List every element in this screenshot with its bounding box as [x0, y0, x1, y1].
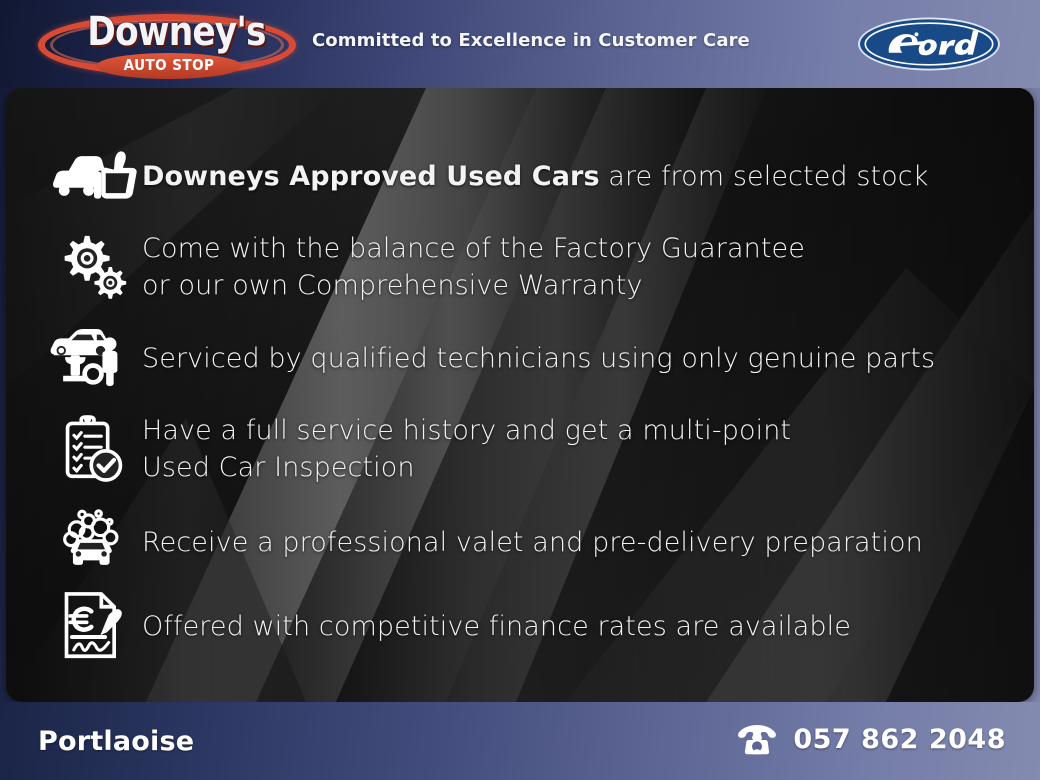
list-item: Receive a professional valet and pre-del…	[46, 506, 1014, 578]
phone-number: 057 862 2048	[793, 724, 1006, 755]
footer-bar: Portlaoise 057 862 2048	[0, 702, 1040, 780]
list-item-label: Come with the balance of the Factory Gua…	[142, 230, 805, 304]
list-item-label-rest: are from selected stock	[600, 161, 929, 192]
list-item: Have a full service history and get a mu…	[46, 402, 1014, 496]
list-item-label: Downeys Approved Used Cars are from sele…	[142, 158, 928, 195]
downeys-logo[interactable]: Downey's AUTO STOP	[36, 4, 298, 86]
list-item-line-1: Have a full service history and get a mu…	[142, 412, 791, 449]
promo-banner: Downey's AUTO STOP Committed to Excellen…	[0, 0, 1040, 780]
logo-wordmark: Downey's	[87, 10, 250, 54]
list-item-label: Receive a professional valet and pre-del…	[142, 524, 923, 561]
euro-finance-document-icon	[46, 590, 142, 662]
ford-oval-icon	[856, 16, 1002, 72]
list-item-line-2: Used Car Inspection	[142, 449, 791, 486]
list-item: Downeys Approved Used Cars are from sele…	[46, 140, 1014, 212]
car-lift-mechanic-icon	[46, 322, 142, 394]
ford-oval-logo[interactable]	[856, 16, 1002, 72]
car-thumbs-up-icon	[46, 140, 142, 212]
car-wash-valet-icon	[46, 506, 142, 578]
main-panel: Downeys Approved Used Cars are from sele…	[6, 88, 1034, 702]
telephone-icon	[737, 725, 777, 755]
phone-contact[interactable]: 057 862 2048	[737, 724, 1006, 755]
gears-icon	[46, 220, 142, 314]
logo-subtitle: AUTO STOP	[103, 56, 234, 75]
clipboard-check-icon	[46, 402, 142, 496]
list-item-label: Have a full service history and get a mu…	[142, 412, 791, 486]
list-item-label: Offered with competitive finance rates a…	[142, 608, 851, 645]
header-bar: Downey's AUTO STOP Committed to Excellen…	[0, 0, 1040, 88]
list-item-label: Serviced by qualified technicians using …	[142, 340, 935, 377]
tagline: Committed to Excellence in Customer Care	[312, 30, 750, 51]
list-item-line-2: or our own Comprehensive Warranty	[142, 267, 805, 304]
list-item: Offered with competitive finance rates a…	[46, 590, 1014, 662]
branch-name: Portlaoise	[38, 726, 194, 757]
list-item-line-1: Come with the balance of the Factory Gua…	[142, 230, 805, 267]
benefit-list: Downeys Approved Used Cars are from sele…	[6, 88, 1034, 702]
list-item: Serviced by qualified technicians using …	[46, 322, 1014, 394]
list-item: Come with the balance of the Factory Gua…	[46, 220, 1014, 314]
list-item-label-bold: Downeys Approved Used Cars	[142, 161, 600, 192]
